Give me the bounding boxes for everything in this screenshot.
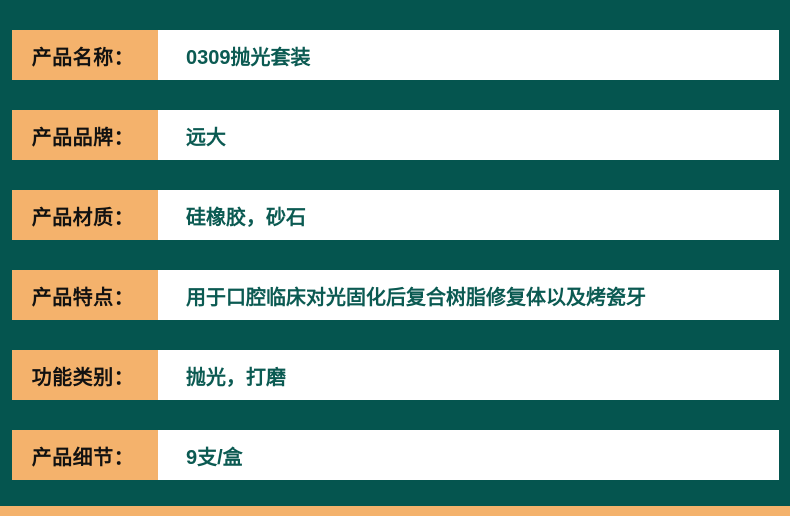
spec-row-list: 产品名称： 0309抛光套装 产品品牌： 远大 产品材质： 硅橡胶，砂石 产品特…	[12, 30, 779, 480]
table-row: 产品品牌： 远大	[12, 110, 779, 160]
spec-label-product-features: 产品特点：	[12, 270, 158, 320]
table-row: 产品名称： 0309抛光套装	[12, 30, 779, 80]
table-row: 产品细节： 9支/盒	[12, 430, 779, 480]
spec-value-product-name: 0309抛光套装	[158, 30, 779, 80]
table-row: 产品材质： 硅橡胶，砂石	[12, 190, 779, 240]
bottom-accent-bar	[0, 506, 790, 516]
spec-value-function-category: 抛光，打磨	[158, 350, 779, 400]
spec-label-product-material: 产品材质：	[12, 190, 158, 240]
table-row: 功能类别： 抛光，打磨	[12, 350, 779, 400]
spec-value-product-details: 9支/盒	[158, 430, 779, 480]
spec-value-product-features: 用于口腔临床对光固化后复合树脂修复体以及烤瓷牙	[158, 270, 779, 320]
spec-label-function-category: 功能类别：	[12, 350, 158, 400]
spec-label-product-brand: 产品品牌：	[12, 110, 158, 160]
spec-label-product-details: 产品细节：	[12, 430, 158, 480]
spec-label-product-name: 产品名称：	[12, 30, 158, 80]
table-row: 产品特点： 用于口腔临床对光固化后复合树脂修复体以及烤瓷牙	[12, 270, 779, 320]
spec-value-product-material: 硅橡胶，砂石	[158, 190, 779, 240]
product-spec-sheet: 产品名称： 0309抛光套装 产品品牌： 远大 产品材质： 硅橡胶，砂石 产品特…	[0, 0, 790, 516]
spec-value-product-brand: 远大	[158, 110, 779, 160]
